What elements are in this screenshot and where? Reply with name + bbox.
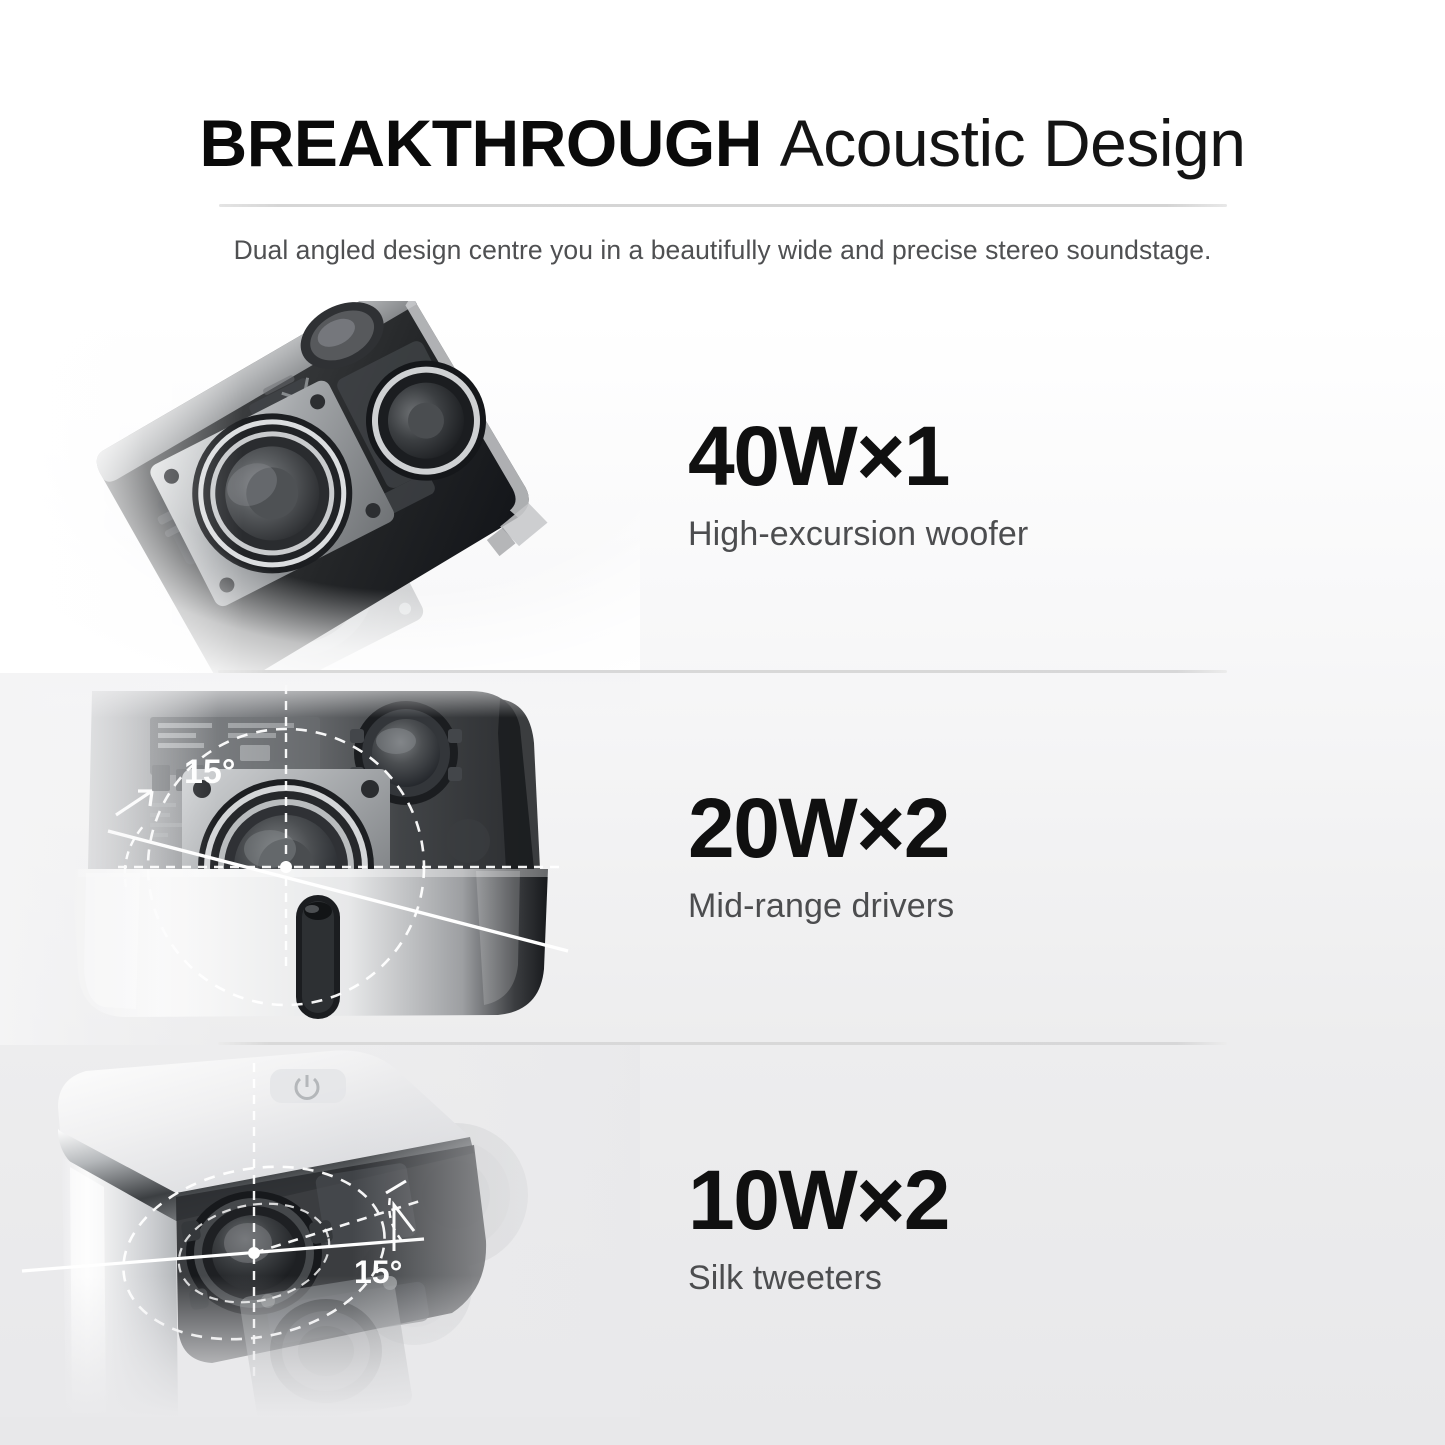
spec-copy: 40W×1 High-excursion woofer <box>640 410 1445 564</box>
speaker-xray-front-view-with-angle: 15° <box>0 673 640 1045</box>
spec-row: 15° 10W×2 Silk tweeters <box>0 1045 1445 1417</box>
spec-row: 40W×1 High-excursion woofer <box>0 301 1445 673</box>
spec-row: 15° 20W×2 Mid-range drivers <box>0 673 1445 1045</box>
spec-caption: Mid-range drivers <box>688 884 1445 928</box>
spec-caption: Silk tweeters <box>688 1256 1445 1300</box>
speaker-xray-top-corner-view-with-angle: 15° <box>0 1045 640 1417</box>
spec-copy: 10W×2 Silk tweeters <box>640 1154 1445 1308</box>
header: BREAKTHROUGH Acoustic Design Dual angled… <box>0 0 1445 267</box>
page-title-light: Acoustic Design <box>780 106 1246 180</box>
page-title-strong: BREAKTHROUGH <box>200 106 762 180</box>
page-title: BREAKTHROUGH Acoustic Design <box>0 104 1445 182</box>
spec-rows: 40W×1 High-excursion woofer <box>0 301 1445 1417</box>
speaker-xray-top-angled-view <box>0 301 640 673</box>
spec-metric: 20W×2 <box>688 782 1445 874</box>
spec-metric: 40W×1 <box>688 410 1445 502</box>
title-space <box>762 106 780 180</box>
spec-metric: 10W×2 <box>688 1154 1445 1246</box>
spec-copy: 20W×2 Mid-range drivers <box>640 782 1445 936</box>
page-subtitle: Dual angled design centre you in a beaut… <box>0 233 1445 267</box>
title-divider <box>219 204 1227 207</box>
spec-caption: High-excursion woofer <box>688 512 1445 556</box>
